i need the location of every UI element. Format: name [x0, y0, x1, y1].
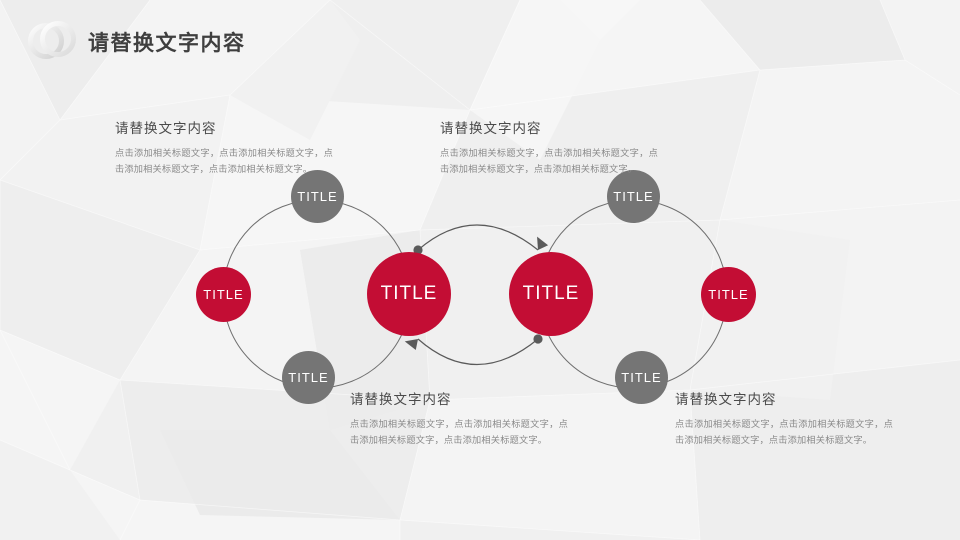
node-left-ring-west[interactable]: TITLE [196, 267, 251, 322]
node-label: TITLE [708, 287, 748, 302]
node-label: TITLE [288, 370, 328, 385]
node-right-ring-east[interactable]: TITLE [701, 267, 756, 322]
text-block-title: 请替换文字内容 [350, 388, 568, 408]
text-block-top-left: 请替换文字内容 点击添加相关标题文字，点击添加相关标题文字，点击添加相关标题文字… [115, 117, 333, 178]
slide-canvas: 请替换文字内容 TITLE TITLE TITLE TITLE TITLE [0, 0, 960, 540]
text-block-body: 点击添加相关标题文字，点击添加相关标题文字，点击添加相关标题文字，点击添加相关标… [440, 146, 658, 178]
text-block-bottom-right: 请替换文字内容 点击添加相关标题文字，点击添加相关标题文字，点击添加相关标题文字… [675, 388, 893, 449]
node-right-ring-south[interactable]: TITLE [615, 351, 668, 404]
node-label: TITLE [613, 189, 653, 204]
node-left-ring-east[interactable]: TITLE [367, 252, 451, 336]
node-label: TITLE [203, 287, 243, 302]
diagram-graphics [0, 0, 960, 540]
text-block-title: 请替换文字内容 [115, 117, 333, 137]
node-right-ring-west[interactable]: TITLE [509, 252, 593, 336]
node-label: TITLE [523, 283, 580, 305]
node-label: TITLE [621, 370, 661, 385]
node-left-ring-north[interactable]: TITLE [291, 170, 344, 223]
node-label: TITLE [381, 283, 438, 305]
node-left-ring-south[interactable]: TITLE [282, 351, 335, 404]
text-block-body: 点击添加相关标题文字，点击添加相关标题文字，点击添加相关标题文字，点击添加相关标… [350, 417, 568, 449]
arrow-right-to-left [405, 333, 543, 364]
text-block-top-right: 请替换文字内容 点击添加相关标题文字，点击添加相关标题文字，点击添加相关标题文字… [440, 117, 658, 178]
text-block-bottom-left: 请替换文字内容 点击添加相关标题文字，点击添加相关标题文字，点击添加相关标题文字… [350, 388, 568, 449]
node-right-ring-north[interactable]: TITLE [607, 170, 660, 223]
text-block-title: 请替换文字内容 [440, 117, 658, 137]
text-block-body: 点击添加相关标题文字，点击添加相关标题文字，点击添加相关标题文字，点击添加相关标… [115, 146, 333, 178]
text-block-title: 请替换文字内容 [675, 388, 893, 408]
node-label: TITLE [297, 189, 337, 204]
arrow-left-to-right [413, 225, 548, 255]
text-block-body: 点击添加相关标题文字，点击添加相关标题文字，点击添加相关标题文字，点击添加相关标… [675, 417, 893, 449]
